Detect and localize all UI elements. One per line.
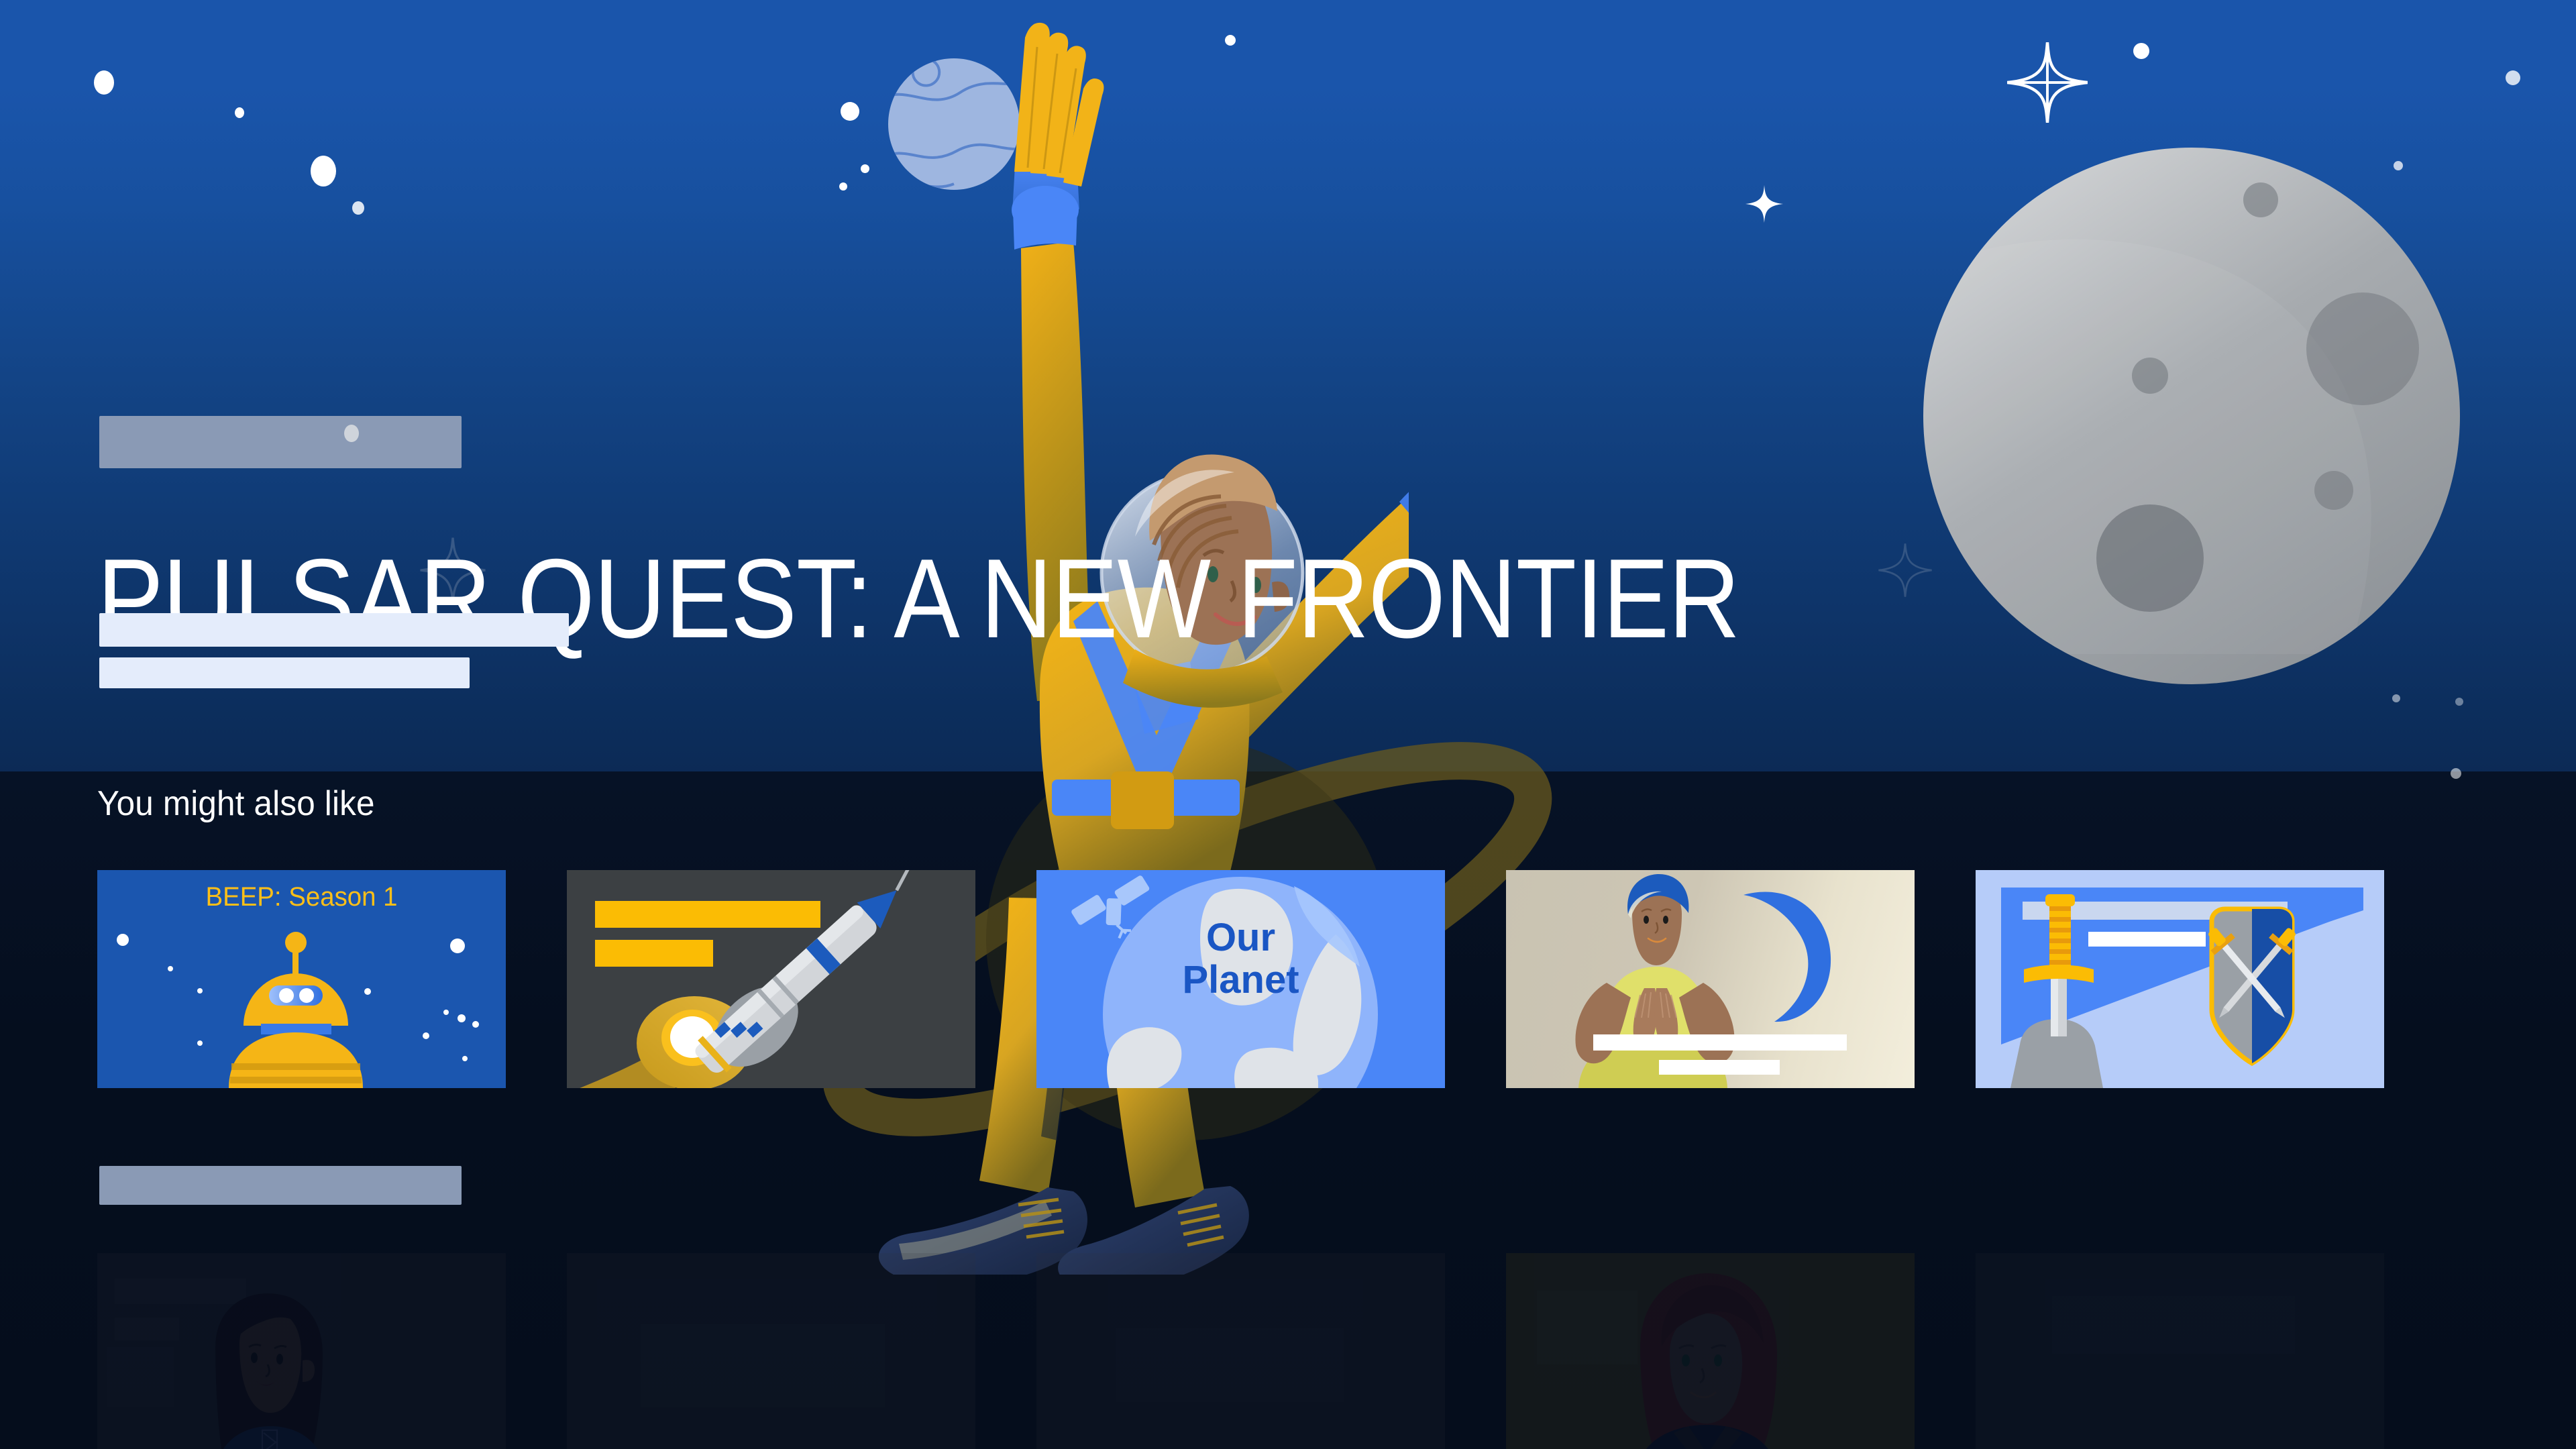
recommended-row: BEEP: Season 1 [97, 870, 2384, 1088]
app-stage: PULSAR QUEST: A NEW FRONTIER You might a… [0, 0, 2576, 1449]
blank-card-art [1036, 1253, 1445, 1449]
card-our-planet[interactable]: Our Planet [1036, 870, 1445, 1088]
card-title-line-1: Our [1036, 917, 1445, 959]
card-row2-2[interactable] [567, 1253, 975, 1449]
star-icon [311, 156, 336, 186]
star-icon [235, 107, 244, 118]
card-row2-3[interactable] [1036, 1253, 1445, 1449]
hero-placeholder-bar-top [99, 416, 462, 468]
hero-placeholder-bar-bottom [99, 657, 470, 688]
star-icon [2392, 694, 2400, 702]
woman-red-hair-illustration [1506, 1253, 1915, 1449]
card-beep-season-1[interactable]: BEEP: Season 1 [97, 870, 506, 1088]
rocket-illustration [567, 870, 975, 1088]
star-icon [841, 102, 859, 121]
section-placeholder-bar [99, 1166, 462, 1205]
star-icon [344, 425, 359, 442]
card-meditation[interactable] [1506, 870, 1915, 1088]
star-icon [94, 70, 114, 95]
large-grey-moon [1920, 144, 2463, 688]
card-row2-4[interactable] [1506, 1253, 1915, 1449]
section-heading: You might also like [97, 784, 375, 824]
blank-card-art [567, 1253, 975, 1449]
card-sword-shield[interactable] [1976, 870, 2384, 1088]
woman-dark-hair-illustration [97, 1253, 506, 1449]
card-title-line-2: Planet [1036, 959, 1445, 1002]
star-icon [2451, 768, 2461, 779]
star-icon [861, 164, 869, 173]
card-title: Our Planet [1036, 917, 1445, 1001]
star-icon [2455, 698, 2463, 706]
star-icon [2506, 70, 2520, 85]
card-row2-1[interactable] [97, 1253, 506, 1449]
sparkle-star-icon [2004, 39, 2091, 126]
hero-placeholder-bar-mid [99, 613, 569, 647]
second-row-dimmed [97, 1253, 2384, 1449]
star-icon [352, 201, 364, 215]
sparkle-star-icon [1743, 182, 1786, 225]
star-icon [839, 182, 847, 191]
star-icon [2133, 43, 2149, 59]
meditating-person-illustration [1506, 870, 1915, 1088]
sword-shield-illustration [1976, 870, 2384, 1088]
card-title: BEEP: Season 1 [105, 882, 498, 912]
card-rocket-launch[interactable] [567, 870, 975, 1088]
card-row2-5[interactable] [1976, 1253, 2384, 1449]
blank-card-art [1976, 1253, 2384, 1449]
